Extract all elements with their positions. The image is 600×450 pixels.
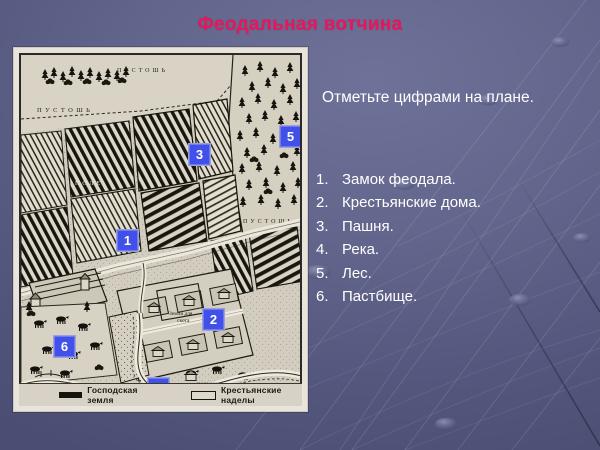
legend-swatch-hollow-icon xyxy=(191,391,216,400)
map-marker-5[interactable]: 5 xyxy=(279,125,302,148)
legend-label-peasant-plots: Крестьянские наделы xyxy=(221,385,296,405)
task-list: 1. Замок феодала. 2. Крестьянские дома. … xyxy=(316,168,596,308)
instruction-text: Отметьте цифрами на плане. xyxy=(322,88,594,107)
task-list-item: 1. Замок феодала. xyxy=(316,168,596,191)
task-number: 6. xyxy=(316,285,342,308)
slide-title: Феодальная вотчина xyxy=(0,14,600,36)
svg-text:ПУСТОШЬ: ПУСТОШЬ xyxy=(117,68,168,74)
task-label: Пашня. xyxy=(342,215,394,238)
slide: Феодальная вотчина xyxy=(0,0,600,450)
task-number: 1. xyxy=(316,168,342,191)
map-marker-6[interactable]: 6 xyxy=(53,335,76,358)
map-canvas: ПУСТОШЬ ПУСТОШЬ xyxy=(19,53,302,406)
svg-text:ПОЛЕ: ПОЛЕ xyxy=(75,181,103,187)
map-marker-3[interactable]: 3 xyxy=(188,143,211,166)
task-number: 2. xyxy=(316,191,342,214)
map-legend: Господская земля Крестьянские наделы xyxy=(19,383,302,406)
task-number: 5. xyxy=(316,262,342,285)
legend-swatch-solid-icon xyxy=(59,392,82,398)
svg-text:ПУСТОШЬ: ПУСТОШЬ xyxy=(37,107,93,114)
task-label: Замок феодала. xyxy=(342,168,456,191)
task-list-item: 2. Крестьянские дома. xyxy=(316,191,596,214)
task-list-item: 5. Лес. xyxy=(316,262,596,285)
map-image[interactable]: ПУСТОШЬ ПУСТОШЬ xyxy=(13,47,308,412)
task-list-item: 4. Река. xyxy=(316,238,596,261)
task-number: 4. xyxy=(316,238,342,261)
task-label: Пастбище. xyxy=(342,285,417,308)
task-number: 3. xyxy=(316,215,342,238)
task-label: Река. xyxy=(342,238,379,261)
svg-text:скота: скота xyxy=(177,318,190,324)
task-label: Лес. xyxy=(342,262,372,285)
map-marker-2[interactable]: 2 xyxy=(202,308,225,331)
task-list-item: 6. Пастбище. xyxy=(316,285,596,308)
map-marker-1[interactable]: 1 xyxy=(116,229,139,252)
legend-item-peasant-plots: Крестьянские наделы xyxy=(191,385,296,405)
legend-item-lords-land: Господская земля xyxy=(59,385,149,405)
legend-label-lords-land: Господская земля xyxy=(87,385,149,405)
task-list-item: 3. Пашня. xyxy=(316,215,596,238)
task-label: Крестьянские дома. xyxy=(342,191,481,214)
